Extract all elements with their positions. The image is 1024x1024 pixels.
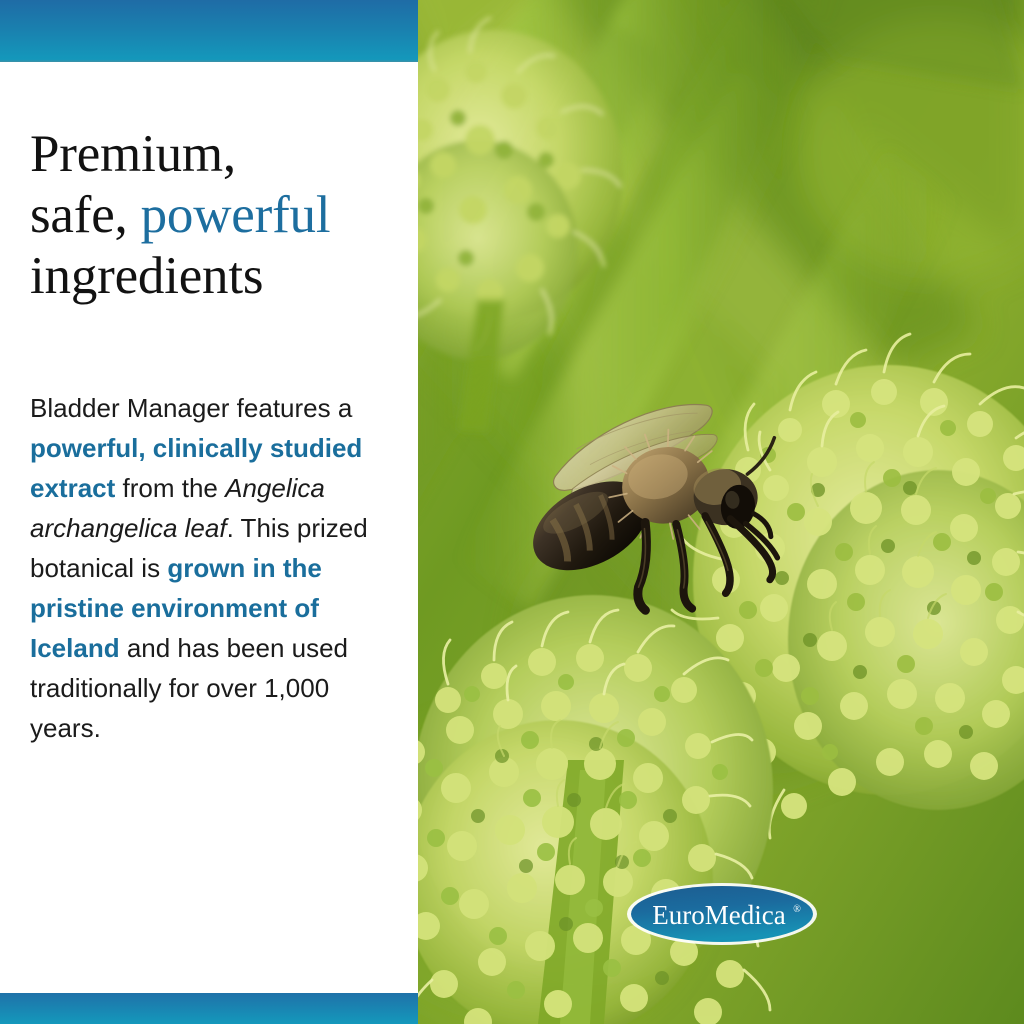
body-segment-3: from the	[115, 473, 225, 503]
logo-badge: EuroMedica ®	[625, 882, 819, 946]
bottom-accent-bar	[0, 993, 418, 1024]
top-accent-bar	[0, 0, 418, 62]
promo-graphic: Premium, safe, powerful ingredients Blad…	[0, 0, 1024, 1024]
text-panel: Premium, safe, powerful ingredients Blad…	[0, 0, 418, 1024]
heading-line-3: ingredients	[30, 247, 263, 305]
heading-line-2-accent: powerful	[141, 186, 331, 244]
page-title: Premium, safe, powerful ingredients	[30, 124, 400, 307]
product-photo	[418, 0, 1024, 1024]
registered-trademark-icon: ®	[793, 904, 801, 915]
heading-line-2-plain: safe,	[30, 186, 141, 244]
body-paragraph: Bladder Manager features a powerful, cli…	[30, 388, 390, 748]
euromedica-logo: EuroMedica ®	[625, 882, 819, 946]
body-segment-1: Bladder Manager features a	[30, 393, 352, 423]
bee-on-angelica-illustration	[418, 0, 1024, 1024]
heading-line-1: Premium,	[30, 125, 236, 183]
logo-wordmark: EuroMedica	[652, 900, 785, 930]
